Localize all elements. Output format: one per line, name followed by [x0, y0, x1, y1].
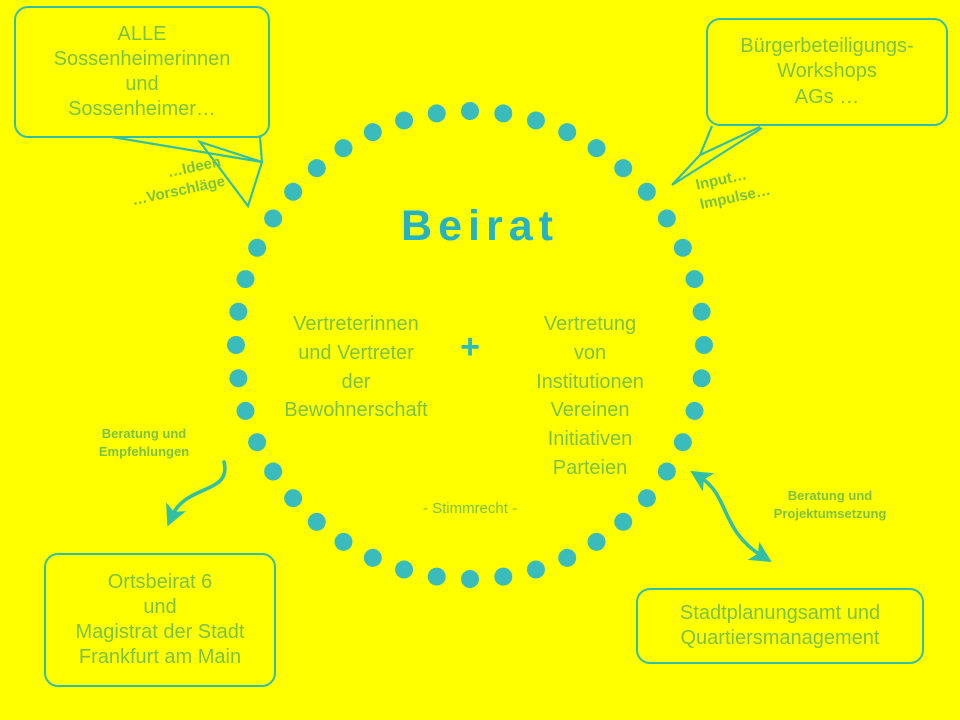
circle-dot	[428, 104, 446, 122]
left-column-line-3: der	[266, 368, 446, 397]
circle-dot	[364, 123, 382, 141]
circle-dot	[527, 111, 545, 129]
annotation-beratung-empfehlungen-line-1: Beratung und	[74, 425, 214, 443]
annotation-beratung-empfehlungen: Beratung und Empfehlungen	[74, 425, 214, 460]
circle-dot	[527, 561, 545, 579]
circle-dot	[395, 111, 413, 129]
arrow-beratung-empfehlungen	[172, 462, 225, 516]
circle-dot	[248, 433, 266, 451]
circle-dot	[693, 303, 711, 321]
circle-dot	[284, 183, 302, 201]
circle-dot	[334, 139, 352, 157]
circle-dot	[284, 489, 302, 507]
right-column-line-3: Institutionen	[500, 368, 680, 397]
circle-dot	[461, 570, 479, 588]
box-workshops-line-1: Bürgerbeteiligungs-	[740, 34, 913, 59]
box-ortsbeirat-line-4: Frankfurt am Main	[79, 645, 241, 670]
center-right-column: Vertretung von Institutionen Vereinen In…	[500, 310, 680, 483]
circle-dot	[229, 369, 247, 387]
center-left-column: Vertreterinnen und Vertreter der Bewohne…	[266, 310, 446, 425]
circle-dot	[686, 270, 704, 288]
left-column-line-2: und Vertreter	[266, 339, 446, 368]
circle-dot	[614, 513, 632, 531]
right-column-line-6: Parteien	[500, 454, 680, 483]
box-stadtplanung-line-2: Quartiersmanagement	[681, 626, 880, 651]
box-workshops-line-3: AGs …	[795, 85, 859, 110]
box-alle-line-4: Sossenheimer…	[68, 97, 216, 122]
circle-dot	[308, 159, 326, 177]
stimmrecht-footnote: - Stimmrecht -	[380, 500, 560, 517]
circle-dot	[638, 183, 656, 201]
circle-dot	[614, 159, 632, 177]
circle-dot	[588, 533, 606, 551]
circle-dot	[494, 104, 512, 122]
circle-dot	[638, 489, 656, 507]
circle-dot	[264, 463, 282, 481]
right-column-line-1: Vertretung	[500, 310, 680, 339]
annotation-beratung-projektumsetzung-line-2: Projektumsetzung	[742, 505, 918, 523]
box-workshops-line-2: Workshops	[777, 59, 877, 84]
circle-dot	[588, 139, 606, 157]
left-column-line-1: Vertreterinnen	[266, 310, 446, 339]
box-ortsbeirat-line-3: Magistrat der Stadt	[76, 620, 245, 645]
right-column-line-4: Vereinen	[500, 396, 680, 425]
circle-dot	[461, 102, 479, 120]
box-stadtplanung-line-1: Stadtplanungsamt und	[680, 601, 880, 626]
callout-box-workshops[interactable]: Bürgerbeteiligungs- Workshops AGs …	[706, 18, 948, 126]
circle-dot	[334, 533, 352, 551]
circle-dot	[693, 369, 711, 387]
left-column-line-4: Bewohnerschaft	[266, 396, 446, 425]
circle-dot	[428, 568, 446, 586]
circle-dot	[558, 549, 576, 567]
box-stadtplanungsamt[interactable]: Stadtplanungsamt und Quartiersmanagement	[636, 588, 924, 664]
callout-box-alle[interactable]: ALLE Sossenheimerinnen und Sossenheimer…	[14, 6, 270, 138]
circle-dot	[229, 303, 247, 321]
box-alle-line-3: und	[125, 72, 158, 97]
box-ortsbeirat[interactable]: Ortsbeirat 6 und Magistrat der Stadt Fra…	[44, 553, 276, 687]
annotation-beratung-projektumsetzung: Beratung und Projektumsetzung	[742, 487, 918, 522]
box-alle-line-1: ALLE	[118, 22, 167, 47]
right-column-line-5: Initiativen	[500, 425, 680, 454]
annotation-beratung-empfehlungen-line-2: Empfehlungen	[74, 443, 214, 461]
annotation-beratung-projektumsetzung-line-1: Beratung und	[742, 487, 918, 505]
page-title: Beirat	[0, 202, 960, 251]
circle-dot	[558, 123, 576, 141]
callout-tail-input	[700, 126, 760, 155]
circle-dot	[364, 549, 382, 567]
right-column-line-2: von	[500, 339, 680, 368]
diagram-canvas: ALLE Sossenheimerinnen und Sossenheimer……	[0, 0, 960, 720]
circle-dot	[227, 336, 245, 354]
circle-dot	[236, 402, 254, 420]
circle-dot	[686, 402, 704, 420]
box-alle-line-2: Sossenheimerinnen	[54, 47, 231, 72]
circle-dot	[308, 513, 326, 531]
circle-dot	[695, 336, 713, 354]
circle-dot	[395, 561, 413, 579]
circle-dot	[494, 568, 512, 586]
box-ortsbeirat-line-1: Ortsbeirat 6	[108, 570, 212, 595]
plus-icon: +	[450, 330, 490, 364]
circle-dot	[236, 270, 254, 288]
box-ortsbeirat-line-2: und	[143, 595, 176, 620]
